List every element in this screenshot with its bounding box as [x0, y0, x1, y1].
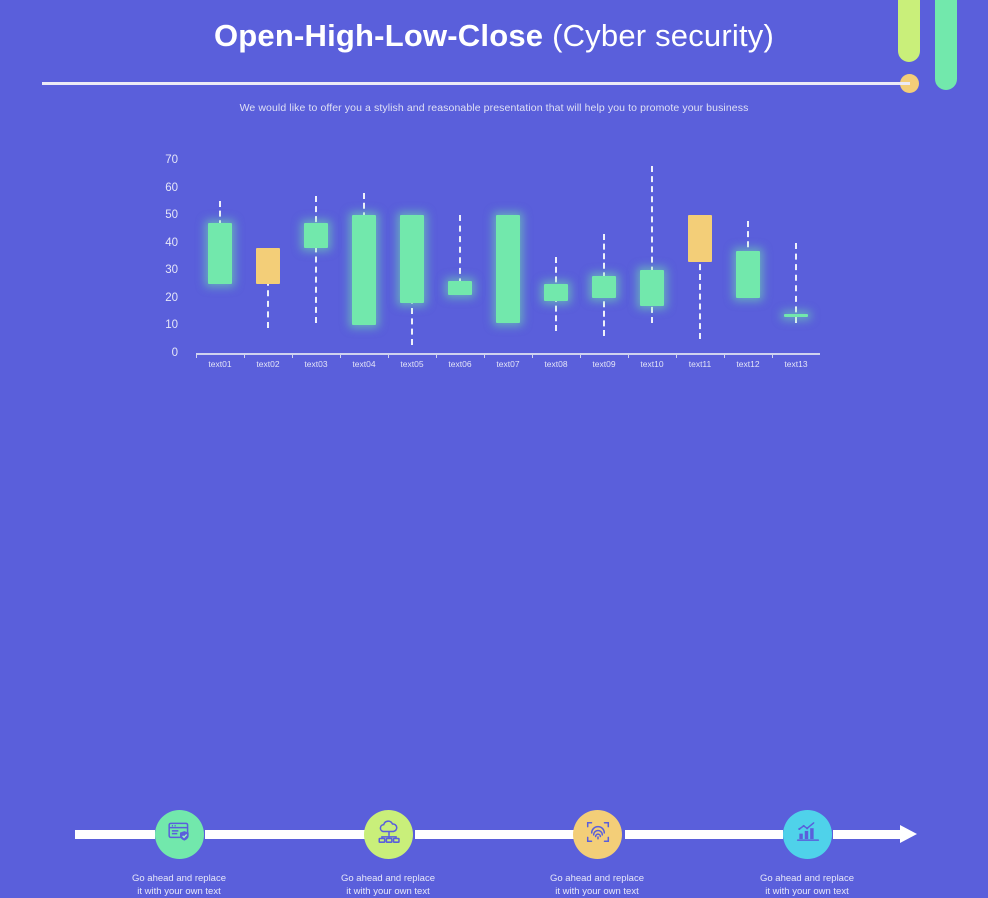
y-axis-tick-label: 30 [138, 264, 178, 276]
x-axis-tick [340, 353, 341, 358]
y-axis-tick-label: 70 [138, 154, 178, 166]
x-axis-tick [292, 353, 293, 358]
x-axis-tick [532, 353, 533, 358]
candle[interactable] [580, 160, 628, 353]
y-axis-tick-label: 50 [138, 209, 178, 221]
candle-body [256, 248, 280, 284]
x-axis-tick-label: text03 [292, 359, 340, 369]
timeline-caption-line1: Go ahead and replace [707, 872, 907, 885]
x-axis-tick [196, 353, 197, 358]
candle[interactable] [388, 160, 436, 353]
candle-body [208, 223, 232, 284]
timeline-caption: Go ahead and replaceit with your own tex… [707, 872, 907, 898]
timeline-arrow-icon [900, 825, 917, 843]
page-subtitle: We would like to offer you a stylish and… [0, 102, 988, 114]
candle-body [400, 215, 424, 303]
candle-body [304, 223, 328, 248]
x-axis-tick-label: text09 [580, 359, 628, 369]
x-axis-tick [436, 353, 437, 358]
candle-body [640, 270, 664, 306]
candle-body [352, 215, 376, 325]
x-axis-tick [580, 353, 581, 358]
x-axis-tick-label: text12 [724, 359, 772, 369]
x-axis-tick-label: text11 [676, 359, 724, 369]
x-axis-tick-label: text01 [196, 359, 244, 369]
candle-wick [315, 196, 317, 323]
x-axis-tick [676, 353, 677, 358]
fingerprint-scan-icon [585, 819, 611, 850]
timeline-node-3[interactable] [573, 810, 622, 859]
x-axis-line [196, 353, 820, 355]
page-title: Open-High-Low-Close (Cyber security) [0, 18, 988, 54]
timeline-caption: Go ahead and replaceit with your own tex… [497, 872, 697, 898]
timeline-segment [415, 830, 575, 839]
candle[interactable] [628, 160, 676, 353]
timeline-caption-line2: it with your own text [707, 885, 907, 898]
candle-body [592, 276, 616, 298]
page-title-light: (Cyber security) [552, 18, 774, 53]
timeline-caption-line2: it with your own text [497, 885, 697, 898]
candle[interactable] [436, 160, 484, 353]
x-axis-tick-label: text13 [772, 359, 820, 369]
candle[interactable] [724, 160, 772, 353]
candle-body [688, 215, 712, 262]
timeline-caption: Go ahead and replaceit with your own tex… [288, 872, 488, 898]
candle[interactable] [484, 160, 532, 353]
x-axis-tick-label: text06 [436, 359, 484, 369]
timeline-segment [625, 830, 783, 839]
timeline-node-4[interactable] [783, 810, 832, 859]
timeline-caption-line1: Go ahead and replace [79, 872, 279, 885]
x-axis-tick-label: text07 [484, 359, 532, 369]
timeline-segment [833, 830, 903, 839]
cloud-network-icon [376, 819, 402, 850]
x-axis-tick [388, 353, 389, 358]
timeline-segment [75, 830, 155, 839]
page-title-bold: Open-High-Low-Close [214, 18, 543, 53]
y-axis-tick-label: 40 [138, 237, 178, 249]
y-axis-tick-label: 20 [138, 292, 178, 304]
candle-body [544, 284, 568, 301]
timeline-caption: Go ahead and replaceit with your own tex… [79, 872, 279, 898]
candle[interactable] [340, 160, 388, 353]
timeline-node-2[interactable] [364, 810, 413, 859]
x-axis-tick [628, 353, 629, 358]
header-divider [42, 82, 910, 85]
candle-body [784, 314, 808, 317]
browser-shield-icon [167, 819, 193, 850]
candle[interactable] [772, 160, 820, 353]
candle[interactable] [676, 160, 724, 353]
timeline-node-1[interactable] [155, 810, 204, 859]
timeline-segment [205, 830, 365, 839]
candle-body [736, 251, 760, 298]
x-axis-tick [724, 353, 725, 358]
candle[interactable] [532, 160, 580, 353]
y-axis-tick-label: 10 [138, 319, 178, 331]
timeline: Go ahead and replaceit with your own tex… [0, 400, 988, 510]
chart-plot-area [196, 160, 820, 353]
x-axis-tick [484, 353, 485, 358]
bar-chart-trend-icon [795, 819, 821, 850]
candle-body [448, 281, 472, 295]
timeline-caption-line1: Go ahead and replace [288, 872, 488, 885]
timeline-caption-line1: Go ahead and replace [497, 872, 697, 885]
ohlc-chart: 010203040506070 text01text02text03text04… [170, 160, 820, 375]
x-axis-tick-label: text08 [532, 359, 580, 369]
candle-wick [795, 243, 797, 323]
y-axis-tick-label: 60 [138, 182, 178, 194]
x-axis-tick-label: text05 [388, 359, 436, 369]
x-axis-tick [772, 353, 773, 358]
x-axis-tick-label: text02 [244, 359, 292, 369]
x-axis-tick [244, 353, 245, 358]
x-axis-tick-label: text10 [628, 359, 676, 369]
x-axis-tick-label: text04 [340, 359, 388, 369]
candle[interactable] [292, 160, 340, 353]
timeline-caption-line2: it with your own text [288, 885, 488, 898]
timeline-caption-line2: it with your own text [79, 885, 279, 898]
candle[interactable] [244, 160, 292, 353]
candle[interactable] [196, 160, 244, 353]
candle-body [496, 215, 520, 323]
y-axis-tick-label: 0 [138, 347, 178, 359]
